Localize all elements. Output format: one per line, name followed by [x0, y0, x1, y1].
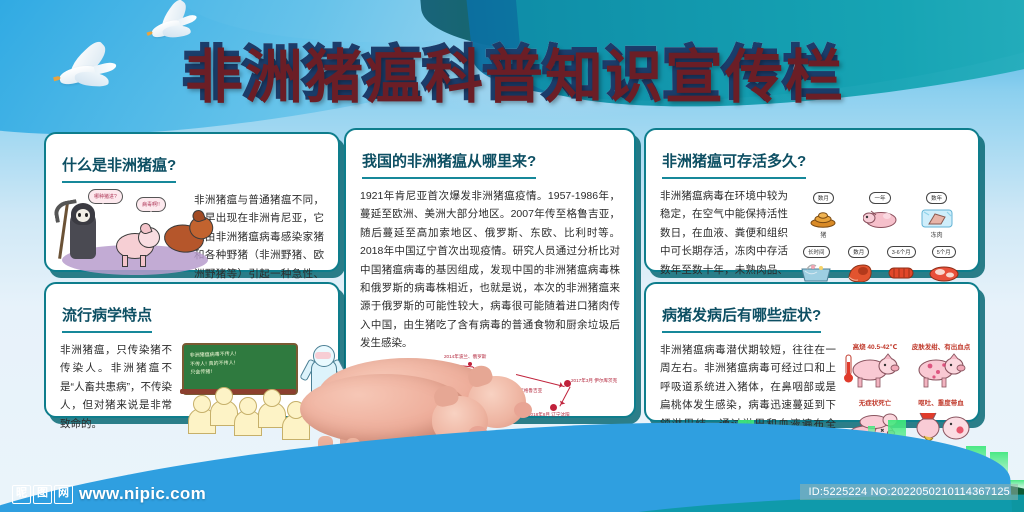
poster-canvas: 非洲猪瘟科普知识宣传栏 什么是非洲猪瘟? 哪种猪进?	[0, 0, 1024, 512]
card-origin-body: 1921年肯尼亚首次爆发非洲猪瘟疫情。1957-1986年，蔓延至欧洲、美洲大部…	[360, 187, 620, 352]
map-label-irkutsk: 2017年3月 伊尔库茨克	[571, 378, 617, 384]
card-epi-heading: 流行病学特点	[62, 294, 152, 333]
survival-duration-bubble: 数年	[926, 192, 947, 204]
card-symptom-heading: 病猪发病后有哪些症状?	[662, 294, 821, 333]
fever-pig-icon	[844, 351, 906, 393]
card-symptoms: 病猪发病后有哪些症状? 非洲猪瘟病毒潜伏期较短，往往在一周左右。非洲猪瘟病毒可经…	[644, 282, 980, 422]
map-label-shenyang: 2018年8月 辽宁沈阳	[528, 412, 570, 418]
symptom-label: 呕吐、重度带血	[910, 397, 972, 407]
blackboard-text: 非洲猪瘟病毒不传人!不传人! 真的不传人!只会传猪!	[190, 348, 292, 377]
carcass-icon	[853, 205, 908, 231]
survival-duration-bubble: 数月	[848, 246, 869, 258]
survival-duration-bubble: 3-6个月	[887, 246, 916, 258]
nipic-logo-char: 昵	[12, 485, 31, 504]
nipic-logo-char: 网	[54, 485, 73, 504]
map-point-shenyang	[550, 404, 557, 411]
survival-item-manure-icon: 数月猪	[796, 187, 851, 239]
map-arrow	[559, 387, 571, 407]
nipic-logo-char: 图	[33, 485, 52, 504]
card-what-heading: 什么是非洲猪瘟?	[62, 144, 176, 183]
reaper-speech-bubble: 哪种猪进?	[88, 189, 123, 204]
survival-item-label: 猪	[796, 230, 851, 239]
wild-boar-icon	[161, 211, 214, 268]
survival-item-carcass-icon: 一年	[853, 187, 908, 239]
survival-item-label: 冻肉	[909, 230, 964, 239]
survival-item-frozen-meat-icon: 数年冻肉	[909, 187, 964, 239]
reaper-chasing-pigs-illustration: 哪种猪进? 病毒啊!!	[60, 191, 186, 287]
manure-icon	[796, 205, 851, 231]
symptom-label: 皮肤发绀、有出血点	[910, 341, 972, 351]
pink-pig-icon	[116, 225, 158, 265]
page-title: 非洲猪瘟科普知识宣传栏	[182, 26, 842, 110]
watermark-url: www.nipic.com	[79, 484, 206, 504]
symptom-label: 无症状死亡	[844, 397, 906, 407]
cyanosis-pig-icon	[910, 351, 972, 393]
poster-title-wrap: 非洲猪瘟科普知识宣传栏	[0, 26, 1024, 110]
symptom-item-fever-pig-icon: 高烧 40.5-42℃	[844, 341, 906, 393]
card-epidemiology: 流行病学特点 非洲猪瘟，只传染猪不传染人。非洲猪瘟不是“人畜共患病”，不传染人，…	[44, 282, 340, 418]
nipic-logo: 昵图网	[12, 485, 73, 504]
survival-icons-row1: 数月猪一年数年冻肉	[796, 187, 964, 239]
pig-speech-bubble: 病毒啊!!	[136, 197, 166, 212]
symptom-label: 高烧 40.5-42℃	[844, 341, 906, 351]
survival-duration-bubble: 5个月	[932, 246, 956, 258]
card-origin-heading: 我国的非洲猪瘟从哪里来?	[362, 140, 536, 179]
watermark: 昵图网 www.nipic.com	[12, 484, 206, 504]
survival-duration-bubble: 一年	[869, 192, 890, 204]
card-epi-body: 非洲猪瘟，只传染猪不传染人。非洲猪瘟不是“人畜共患病”，不传染人，但对猪来说是非…	[60, 341, 172, 433]
frozen-meat-icon	[909, 205, 964, 231]
card-what-is-asf: 什么是非洲猪瘟? 哪种猪进? 病毒啊!!	[44, 132, 340, 272]
survival-duration-bubble: 数月	[813, 192, 834, 204]
survival-duration-bubble: 长时间	[803, 246, 830, 258]
card-asf-survival: 非洲猪瘟可存活多久? 非洲猪瘟病毒在环境中较为稳定，在空气中能保持活性数日，在血…	[644, 128, 980, 272]
symptom-item-cyanosis-pig-icon: 皮肤发绀、有出血点	[910, 341, 972, 393]
image-id-tag: ID:5225224 NO:2022050210114367125	[800, 484, 1018, 500]
card-survive-heading: 非洲猪瘟可存活多久?	[662, 140, 806, 179]
grim-reaper-icon	[66, 203, 100, 261]
